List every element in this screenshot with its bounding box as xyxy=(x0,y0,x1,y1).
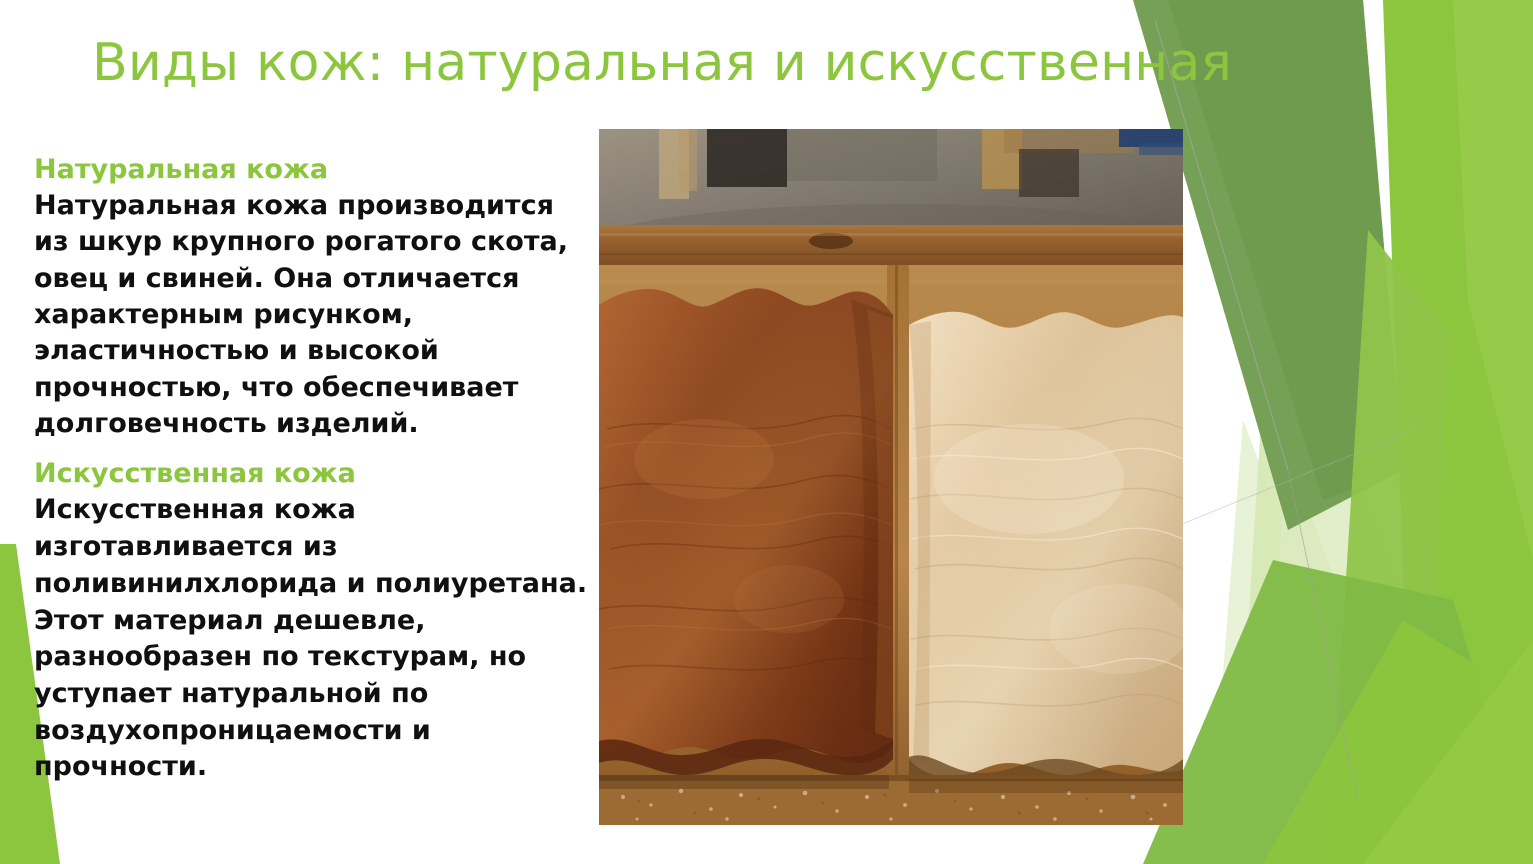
photo-table-back-edge xyxy=(599,225,1183,267)
deco-shape-mid xyxy=(1328,230,1448,864)
leather-samples-photo xyxy=(599,129,1183,825)
deco-shape-bright-right xyxy=(1383,0,1533,864)
section-heading-natural: Натуральная кожа xyxy=(34,152,590,187)
section-natural-leather: Натуральная кожа Натуральная кожа произв… xyxy=(34,152,590,442)
deco-shape-sweep xyxy=(1143,560,1533,864)
section-body-natural: Натуральная кожа производится из шкур кр… xyxy=(34,188,590,442)
deco-hairline-cross xyxy=(1143,430,1413,540)
deco-shape-pale-upper xyxy=(1253,330,1443,864)
presentation-slide: Виды кож: натуральная и искусственная На… xyxy=(0,0,1533,864)
deco-hairline-bottom xyxy=(1288,470,1358,800)
deco-shape-sweep-bright xyxy=(1263,620,1533,864)
section-artificial-leather: Искусственная кожа Искусственная кожа из… xyxy=(34,456,590,786)
deco-shape-pale xyxy=(1233,390,1443,864)
section-heading-artificial: Искусственная кожа xyxy=(34,456,590,491)
deco-shape-bright-right-alt xyxy=(1453,0,1533,560)
section-body-artificial: Искусственная кожа изготавливается из по… xyxy=(34,492,590,786)
slide-title: Виды кож: натуральная и искусственная xyxy=(92,34,1152,92)
deco-shape-pale-light xyxy=(1208,420,1413,864)
deco-shape-bottom-bright xyxy=(1363,640,1533,864)
content-text-column: Натуральная кожа Натуральная кожа произв… xyxy=(34,152,590,786)
